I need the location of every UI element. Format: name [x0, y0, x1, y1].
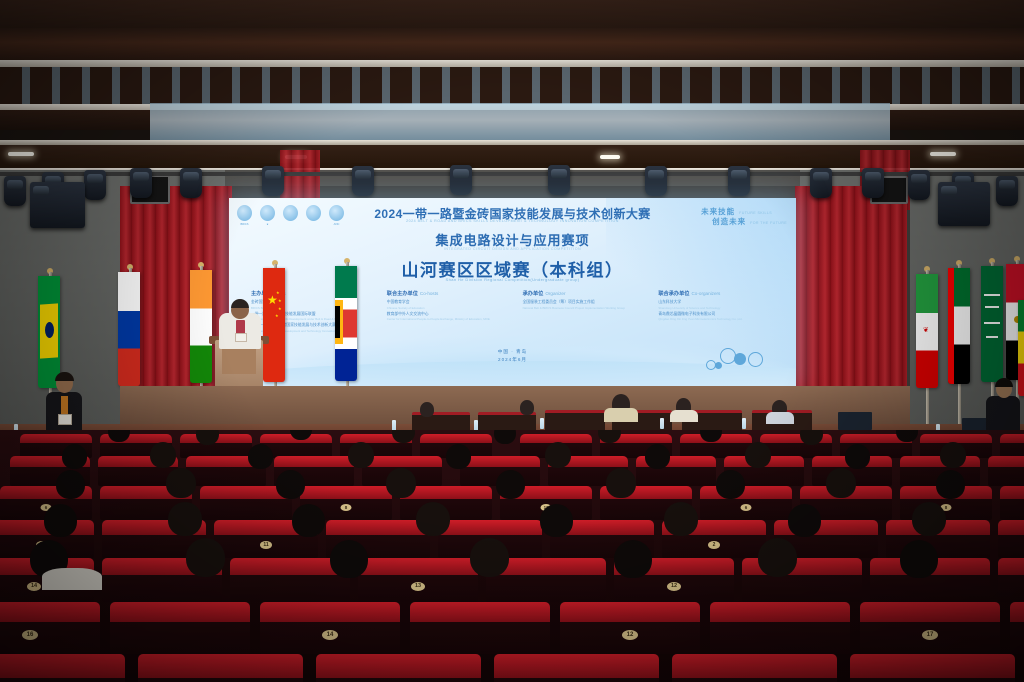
audience-head — [496, 470, 525, 499]
stage-light — [908, 170, 930, 200]
organizer-heading-cn: 承办单位 — [523, 291, 544, 297]
audience-head — [248, 444, 273, 469]
auditorium-seat[interactable] — [672, 654, 837, 682]
upper-glass-window — [150, 103, 890, 141]
gear-decoration-icon — [704, 346, 768, 372]
stage-attendee-head — [520, 400, 534, 415]
stage-attendee-shirt — [766, 412, 794, 424]
auditorium-seat[interactable] — [1010, 602, 1024, 654]
staff-badge — [58, 414, 72, 425]
ceiling-light-strip-1 — [0, 60, 1024, 67]
audience-head — [896, 430, 918, 442]
logo-caption: AVIC — [329, 223, 344, 226]
auditorium-seat[interactable]: 12 — [560, 602, 700, 654]
organizer-heading-en: Co-hosts — [420, 291, 438, 296]
audience-head — [900, 540, 938, 578]
stage-light — [548, 165, 570, 195]
audience-head — [348, 442, 374, 468]
audience-head — [664, 502, 698, 536]
auditorium-seat[interactable] — [1000, 486, 1024, 520]
ceiling-downlight — [930, 152, 956, 156]
organizer-heading: 承办单位Organizer — [523, 290, 645, 297]
audience-head — [545, 442, 571, 468]
seat-number: 17 — [922, 630, 938, 640]
water-bottle — [660, 418, 664, 429]
audience-head — [150, 442, 176, 468]
auditorium-seat[interactable] — [138, 654, 303, 682]
audience-head — [168, 502, 202, 536]
logo-caption: BRICS — [237, 223, 252, 226]
organizer-heading: 联合承办单位Co-organizers — [658, 290, 780, 297]
seat-number: 16 — [22, 630, 38, 640]
flag-china: ★ ★ ★ ★ ★ — [263, 268, 285, 382]
auditorium-seat[interactable] — [0, 654, 125, 682]
slogan-cn-2: 创造未来 — [712, 217, 746, 227]
water-bottle — [540, 418, 544, 429]
audience-head — [788, 504, 821, 537]
audience-head — [416, 502, 450, 536]
stage-light — [810, 168, 832, 198]
audience-head — [292, 504, 325, 537]
auditorium-seat[interactable]: 16 — [0, 602, 100, 654]
ceiling-downlight — [8, 152, 34, 156]
flag-uae — [948, 268, 970, 384]
audience-head — [716, 470, 745, 499]
stage-light — [84, 170, 106, 200]
led-stage-screen: BRICS ★ AVIC 2024一带一路暨金砖国家技能发展与技术创新大赛 20… — [229, 198, 796, 386]
line-array-speaker-right — [938, 182, 990, 226]
stage-attendee-head — [420, 402, 434, 417]
flag-brazil — [38, 276, 60, 388]
stage-light — [130, 168, 152, 198]
audience-head — [446, 444, 471, 469]
audience-head — [330, 540, 368, 578]
screen-slogan-block: 未来技能 FUTURE SKILLS 创造未来 FOR THE FUTURE — [701, 207, 787, 227]
flag-south-africa — [335, 266, 357, 381]
slogan-line-2: 创造未来 FOR THE FUTURE — [701, 217, 787, 227]
auditorium-seat[interactable]: 6 — [700, 486, 792, 520]
seat-number: 13 — [411, 582, 425, 591]
organizer-heading-en: Organizer — [545, 291, 565, 296]
audience-head — [912, 502, 946, 536]
flag-russia — [118, 272, 140, 386]
audience-head — [166, 468, 196, 498]
organizer-column-coorganizers: 联合承办单位Co-organizers 山东科技大学 Shandong Univ… — [658, 290, 780, 335]
slogan-line-1: 未来技能 FUTURE SKILLS — [701, 207, 787, 217]
stage-light — [862, 168, 884, 198]
ceiling-top-band — [0, 0, 1024, 28]
water-bottle — [742, 418, 746, 429]
ceiling-beam-upper — [0, 28, 1024, 64]
audience-head — [758, 538, 797, 577]
organizer-heading-cn: 联合承办单位 — [658, 291, 689, 297]
auditorium-seat[interactable] — [110, 602, 250, 654]
organizer-entry-en: Shandong University of Science and Techn… — [658, 306, 780, 310]
audience-head — [186, 538, 225, 577]
seat-number: 12 — [622, 630, 638, 640]
seat-number: 12 — [667, 582, 681, 591]
stage-attendee-shirt — [670, 410, 698, 422]
audience-head — [940, 442, 966, 468]
stage-light — [180, 168, 202, 198]
stage-light — [728, 166, 750, 196]
organizer-entry-en: Qingdao Ding Xin Jing Yuan Microelectron… — [658, 317, 780, 321]
stage-light — [450, 165, 472, 195]
slogan-en-1: FUTURE SKILLS — [739, 211, 772, 216]
auditorium-seat[interactable]: 13 — [358, 558, 478, 602]
auditorium-seat[interactable]: 17 — [860, 602, 1000, 654]
organizer-entry-en: Center for International People-to-Peopl… — [387, 317, 509, 321]
flag-saudi-arabia — [981, 266, 1003, 382]
audience-head — [745, 442, 771, 468]
organizer-heading: 联合主办单位Co-hosts — [387, 290, 509, 297]
audience-head — [826, 468, 856, 498]
audience-head — [386, 468, 416, 498]
audience-white-shirt — [42, 568, 102, 590]
stage-light — [996, 176, 1018, 206]
auditorium-seat[interactable]: 14 — [260, 602, 400, 654]
flag-india — [190, 270, 212, 383]
auditorium-photo: BRICS ★ AVIC 2024一带一路暨金砖国家技能发展与技术创新大赛 20… — [0, 0, 1024, 682]
stage-light — [4, 176, 26, 206]
flag-ethiopia — [1018, 300, 1024, 396]
screen-event-subtitle-en: INTEGRATED CIRCUIT DESIGN AND APPLICATIO… — [229, 247, 796, 251]
organizer-entry-en: Chinese Society of Education — [387, 306, 509, 310]
flag-iran: ❦ — [916, 274, 938, 388]
stage-light — [262, 166, 284, 196]
auditorium-seat[interactable] — [710, 602, 850, 654]
seat-number: 8 — [341, 504, 352, 511]
auditorium-seat[interactable] — [998, 520, 1024, 558]
slogan-cn-1: 未来技能 — [701, 207, 735, 217]
lanyard — [236, 320, 245, 334]
audience-head — [470, 538, 509, 577]
organizer-column-organizer: 承办单位Organizer 全国服装工程委员会（筹）项目实施工作组 Nation… — [523, 290, 645, 335]
audience-head — [614, 540, 652, 578]
organizer-heading-en: Co-organizers — [691, 291, 720, 296]
stage-light — [645, 166, 667, 196]
auditorium-seat[interactable] — [494, 654, 659, 682]
organizer-column-cohosts: 联合主办单位Co-hosts 中国教育学会 Chinese Society of… — [387, 290, 509, 335]
auditorium-seat[interactable] — [316, 654, 481, 682]
auditorium-seat[interactable] — [850, 654, 1015, 682]
audience-head — [606, 468, 636, 498]
audience-head — [645, 444, 670, 469]
audience-head — [845, 444, 870, 469]
logo-caption: ★ — [260, 223, 275, 226]
organizer-heading-cn: 联合主办单位 — [387, 291, 418, 297]
screen-headline-en: Shan He Division Regional Competition(Un… — [229, 277, 796, 282]
stage-light — [352, 166, 374, 196]
audience-head — [276, 470, 305, 499]
audience-head — [540, 504, 573, 537]
auditorium-seat[interactable] — [410, 602, 550, 654]
auditorium-seat[interactable] — [998, 558, 1024, 602]
slogan-en-2: FOR THE FUTURE — [750, 221, 787, 226]
audience-head — [44, 504, 77, 537]
audience-head — [56, 470, 85, 499]
audience-head — [62, 444, 87, 469]
ceiling-downlight — [600, 155, 620, 159]
staff-lanyard — [61, 396, 68, 416]
seat-number: 14 — [322, 630, 338, 640]
audience-head — [936, 470, 965, 499]
stage-attendee-shirt — [604, 408, 638, 422]
seat-number: 2 — [708, 541, 720, 549]
auditorium-seat[interactable] — [1000, 434, 1024, 458]
laptop[interactable] — [838, 412, 872, 430]
lectern-front-panel — [222, 348, 256, 374]
seat-number: 14 — [27, 582, 41, 591]
organizer-entry-en: National Belt & BRICS Business Council P… — [523, 306, 645, 310]
auditorium-seat[interactable] — [988, 456, 1024, 486]
line-array-speaker-left — [30, 182, 85, 228]
audience-seating: 6 8 11 6 8 10 11 12 2 — [0, 430, 1024, 682]
ceiling-slat-panel — [0, 67, 1024, 105]
seat-number: 11 — [260, 541, 272, 549]
audience-head — [494, 430, 516, 444]
badge — [235, 333, 247, 342]
seat-number: 6 — [741, 504, 752, 511]
screen-organizers-row: 主办单位Hosts 金砖国家工商理事会 BRICS Business Counc… — [251, 290, 780, 335]
